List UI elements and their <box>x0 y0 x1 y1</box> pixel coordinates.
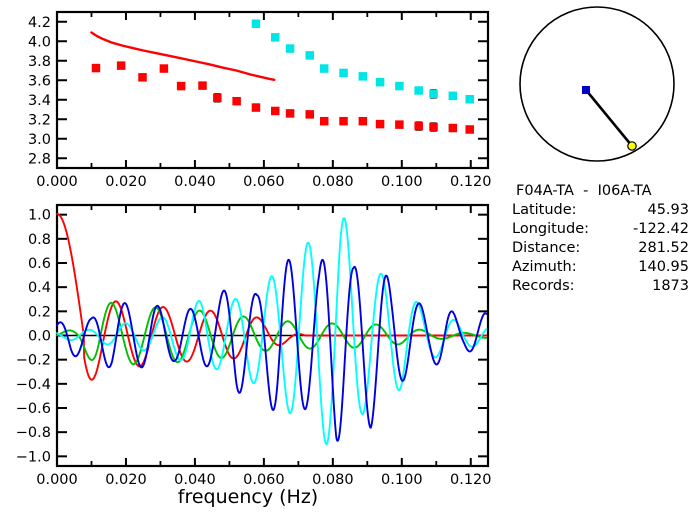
y-tick-label: −1.0 <box>16 449 51 465</box>
info-row-records: Records:1873 <box>512 277 696 296</box>
data-point-marker <box>138 73 147 82</box>
azimuth-value: 140.95 <box>594 258 689 277</box>
y-tick-label: 0.6 <box>28 256 51 272</box>
data-point-marker <box>449 124 458 132</box>
data-point-marker <box>429 90 438 99</box>
y-tick-label: 3.4 <box>28 93 51 109</box>
distance-label: Distance: <box>512 239 594 258</box>
figure-root: 0.0000.0200.0400.0600.0800.1000.1202.83.… <box>0 0 696 519</box>
data-point-marker <box>414 86 423 95</box>
info-row-latitude: Latitude:45.93 <box>512 201 696 220</box>
data-point-marker <box>414 122 423 131</box>
inset-circle-outline <box>520 7 674 161</box>
x-tick-label: 0.000 <box>36 174 78 190</box>
data-point-marker <box>177 82 186 91</box>
x-tick-label: 0.100 <box>381 174 423 190</box>
y-tick-label: −0.2 <box>16 353 51 369</box>
info-row-distance: Distance:281.52 <box>512 239 696 258</box>
data-point-marker <box>359 72 368 81</box>
data-point-marker <box>286 109 295 118</box>
longitude-value: -122.42 <box>594 220 689 239</box>
reference-dispersion-curve <box>91 32 274 79</box>
y-tick-label: −0.8 <box>16 425 51 441</box>
data-point-marker <box>320 117 329 126</box>
y-tick-label: 3.8 <box>28 54 51 70</box>
dispersion-plot: 0.0000.0200.0400.0600.0800.1000.1202.83.… <box>28 12 492 190</box>
data-point-marker <box>213 94 222 103</box>
data-point-marker <box>465 95 474 104</box>
data-point-marker <box>429 123 438 132</box>
x-tick-label: 0.060 <box>243 174 285 190</box>
y-tick-label: 0.4 <box>28 280 51 296</box>
azimuth-label: Azimuth: <box>512 258 594 277</box>
great-circle-path <box>586 90 632 146</box>
station-info-panel: F04A-TA - I06A-TA Latitude:45.93 Longitu… <box>512 182 696 296</box>
trace-red <box>57 214 486 380</box>
data-point-marker <box>449 92 458 101</box>
latitude-value: 45.93 <box>594 201 689 220</box>
x-tick-label: 0.120 <box>450 174 492 190</box>
records-value: 1873 <box>594 277 689 296</box>
station-pair-title: F04A-TA - I06A-TA <box>516 182 696 201</box>
trace-blue <box>57 260 486 441</box>
data-point-marker <box>232 97 241 106</box>
y-tick-label: 0.2 <box>28 304 51 320</box>
x-tick-label: 0.080 <box>312 174 354 190</box>
y-tick-label: −0.6 <box>16 401 51 417</box>
data-point-marker <box>339 117 348 126</box>
data-point-marker <box>339 69 348 78</box>
narrowband-waveform-plot: 0.0000.0200.0400.0600.0800.1000.120−1.0−… <box>16 205 492 488</box>
y-tick-label: 4.0 <box>28 34 51 50</box>
data-point-marker <box>160 64 169 73</box>
data-point-marker <box>395 120 404 129</box>
azimuth-circle-diagram <box>520 7 674 161</box>
data-point-marker <box>252 19 260 28</box>
station-marker-remote <box>628 142 636 150</box>
data-point-marker <box>252 103 260 112</box>
data-point-marker <box>271 33 280 42</box>
data-point-marker <box>271 107 280 116</box>
data-point-marker <box>117 61 126 70</box>
info-row-longitude: Longitude:-122.42 <box>512 220 696 239</box>
longitude-label: Longitude: <box>512 220 594 239</box>
y-tick-label: 3.6 <box>28 73 51 89</box>
data-point-marker <box>305 51 314 60</box>
y-tick-label: 0.8 <box>28 232 51 248</box>
y-tick-label: −0.4 <box>16 377 51 393</box>
distance-value: 281.52 <box>594 239 689 258</box>
data-point-marker <box>92 64 101 73</box>
y-tick-label: 0.0 <box>28 329 51 345</box>
records-label: Records: <box>512 277 594 296</box>
x-tick-label: 0.040 <box>174 174 216 190</box>
x-tick-label: 0.020 <box>105 174 147 190</box>
x-axis-label: frequency (Hz) <box>0 486 496 508</box>
latitude-label: Latitude: <box>512 201 594 220</box>
data-point-marker <box>376 78 385 87</box>
y-tick-label: 4.2 <box>28 15 51 31</box>
station-marker-center <box>582 86 590 94</box>
data-point-marker <box>320 64 329 73</box>
y-tick-label: 3.2 <box>28 112 51 128</box>
info-row-azimuth: Azimuth:140.95 <box>512 258 696 277</box>
data-point-marker <box>198 81 207 90</box>
data-point-marker <box>395 82 404 91</box>
data-point-marker <box>359 117 368 126</box>
y-tick-label: 1.0 <box>28 208 51 224</box>
data-point-marker <box>376 120 385 129</box>
y-tick-label: 3.0 <box>28 132 51 148</box>
y-tick-label: 2.8 <box>28 151 51 167</box>
data-point-marker <box>286 44 295 53</box>
data-point-marker <box>305 110 314 119</box>
data-point-marker <box>465 125 474 134</box>
